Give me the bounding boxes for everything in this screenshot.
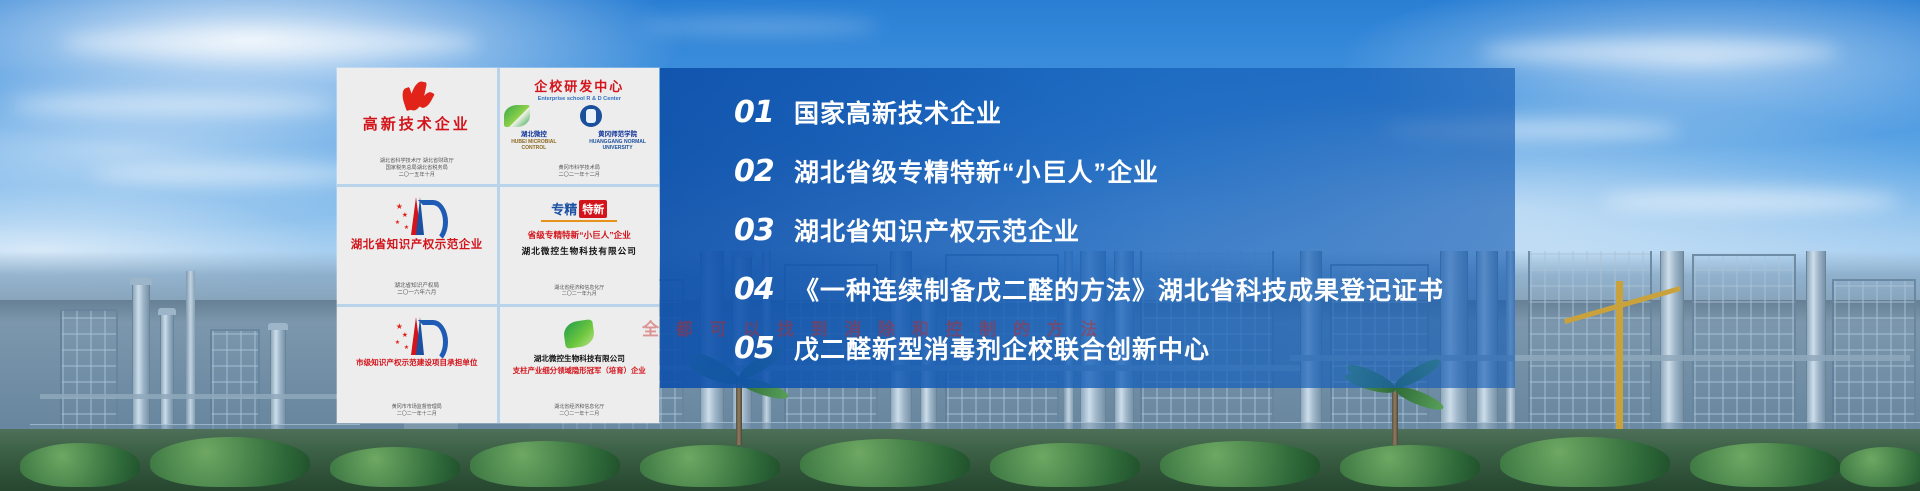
achievement-label: 《一种连续制备戊二醛的方法》湖北省科技成果登记证书: [794, 271, 1444, 307]
badge-left-text: 专精: [551, 199, 577, 218]
green-leaf-logo: [564, 319, 594, 349]
flame-logo: [400, 76, 434, 116]
certificate-title: 省级专精特新“小巨人”企业: [528, 231, 631, 241]
certificate-issuer-line: 湖北省科学技术厅 湖北省财政厅: [380, 158, 454, 165]
achievement-number: 03: [734, 213, 794, 248]
badge-underline: [541, 220, 617, 222]
partner-name-en: HUANGGANG NORMAL UNIVERSITY: [580, 139, 655, 151]
banner-image: 高新技术企业 湖北省科学技术厅 湖北省财政厅 国家税务总局湖北省税务局 二〇一五…: [0, 0, 1920, 491]
badge-right-text: 特新: [579, 200, 607, 218]
zjtx-badge-icon: 专精 特新: [551, 199, 607, 218]
certificate-issuer-line: 黄冈市科学技术局: [558, 165, 600, 172]
certificate-date: 二〇一六年六月: [394, 290, 439, 297]
certificate-card[interactable]: 企校研发中心 Enterprise school R & D Center 湖北…: [500, 68, 660, 184]
achievement-item[interactable]: 01 国家高新技术企业: [734, 94, 1515, 130]
partner-name: 黄冈师范学院: [580, 128, 655, 138]
certificate-title: 企校研发中心: [534, 76, 624, 95]
certificate-company: 湖北微控生物科技有限公司: [534, 353, 625, 364]
certificate-date: 二〇二一年十二月: [554, 411, 604, 418]
certificate-grid: 高新技术企业 湖北省科学技术厅 湖北省财政厅 国家税务总局湖北省税务局 二〇一五…: [337, 68, 659, 423]
certificate-card[interactable]: 专精 特新 省级专精特新“小巨人”企业 湖北微控生物科技有限公司 湖北省经济和信…: [500, 187, 660, 303]
partner-logos: 湖北微控 HUBEI MICROBIAL CONTROL 黄冈师范学院 HUAN…: [504, 105, 656, 151]
watermark-slogan: 全 都 可 以 找 到 消 除 和 控 制 的 方 法: [642, 315, 1103, 340]
certificate-company: 湖北微控生物科技有限公司: [522, 245, 637, 257]
certificate-title: 高新技术企业: [363, 116, 471, 133]
certificate-date: 二〇二一年十二月: [558, 172, 600, 179]
certificate-card[interactable]: ★ ★ ★ ★ 市级知识产权示范建设项目承担单位 黄冈市市场监督管理局 二〇二一…: [337, 307, 497, 423]
certificate-title: 市级知识产权示范建设项目承担单位: [356, 359, 478, 368]
achievement-label: 湖北省级专精特新“小巨人”企业: [794, 153, 1159, 189]
achievement-label: 国家高新技术企业: [794, 94, 1002, 130]
achievement-item[interactable]: 04 《一种连续制备戊二醛的方法》湖北省科技成果登记证书: [734, 271, 1515, 307]
achievement-number: 01: [734, 95, 794, 130]
ip-sail-logo: ★ ★ ★ ★: [394, 315, 440, 359]
certificate-date: 二〇二一年九月: [554, 291, 604, 298]
certificate-issuer-line: 湖北省经济和信息化厅: [554, 404, 604, 411]
certificate-title: 湖北省知识产权示范企业: [351, 239, 483, 252]
certificate-title: 支柱产业细分领域隐形冠军（培育）企业: [513, 367, 646, 376]
partner-name-en: HUBEI MICROBIAL CONTROL: [504, 139, 565, 151]
hubei-microbial-icon: [504, 105, 530, 127]
achievement-item[interactable]: 02 湖北省级专精特新“小巨人”企业: [734, 153, 1515, 189]
certificate-card[interactable]: 湖北微控生物科技有限公司 支柱产业细分领域隐形冠军（培育）企业 湖北省经济和信息…: [500, 307, 660, 423]
certificate-card[interactable]: ★ ★ ★ ★ 湖北省知识产权示范企业 湖北省知识产权局 二〇一六年六月: [337, 187, 497, 303]
certificate-date: 二〇二一年十二月: [392, 411, 442, 418]
partner-name: 湖北微控: [504, 128, 565, 138]
ip-sail-logo: ★ ★ ★ ★: [394, 195, 440, 239]
certificate-date: 二〇一五年十月: [380, 172, 454, 179]
achievement-number: 02: [734, 154, 794, 189]
achievements-panel: 01 国家高新技术企业 02 湖北省级专精特新“小巨人”企业 03 湖北省知识产…: [660, 68, 1515, 388]
achievement-item[interactable]: 03 湖北省知识产权示范企业: [734, 212, 1515, 248]
achievement-number: 04: [734, 272, 794, 307]
achievement-label: 湖北省知识产权示范企业: [794, 212, 1080, 248]
certificate-subtitle: Enterprise school R & D Center: [538, 96, 621, 102]
certificate-issuer-line: 国家税务总局湖北省税务局: [380, 165, 454, 172]
certificate-card[interactable]: 高新技术企业 湖北省科学技术厅 湖北省财政厅 国家税务总局湖北省税务局 二〇一五…: [337, 68, 497, 184]
huanggang-university-icon: [580, 105, 602, 127]
certificate-issuer-line: 黄冈市市场监督管理局: [392, 404, 442, 411]
